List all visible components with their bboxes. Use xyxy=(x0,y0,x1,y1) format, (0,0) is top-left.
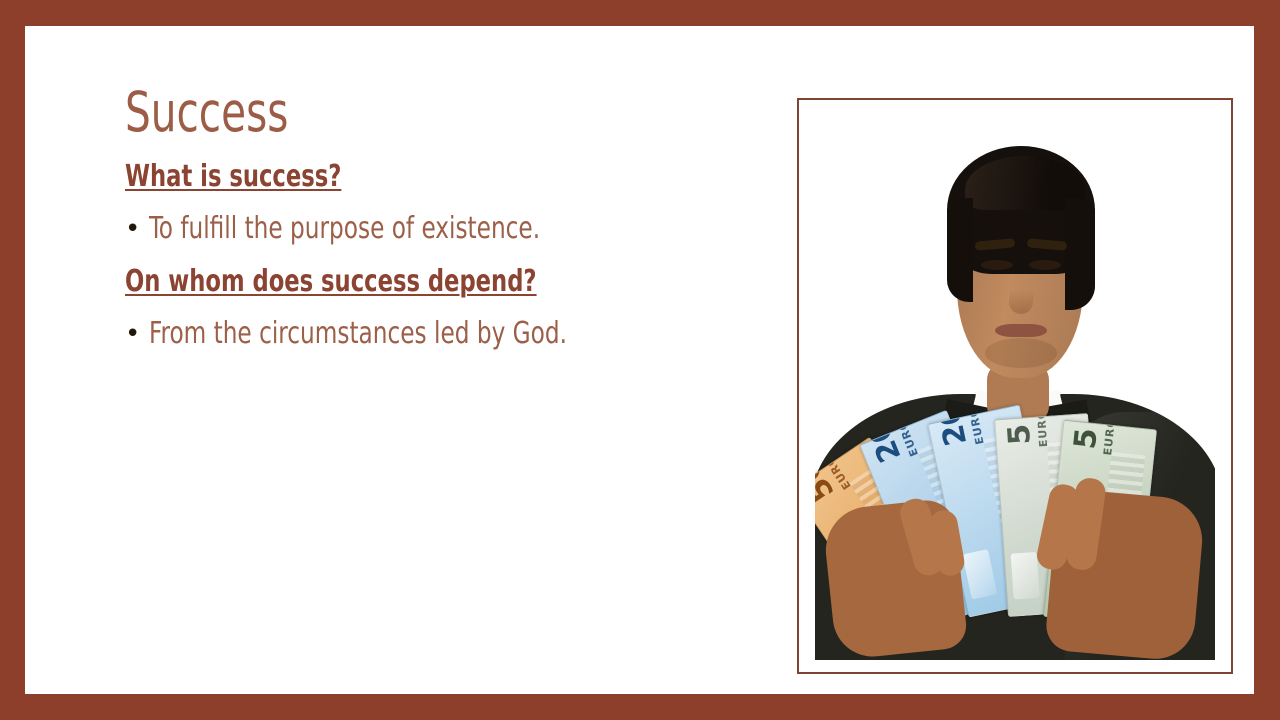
picture-frame: 50 EURO 20 EURO 20 EURO xyxy=(797,98,1233,674)
bullet-icon: • xyxy=(125,200,149,258)
page-title: Success xyxy=(125,81,633,143)
eye-right xyxy=(1029,260,1061,270)
slide-border: Success What is success? • To fulfill th… xyxy=(0,0,1280,720)
sub-heading-1: What is success? xyxy=(125,153,646,200)
list-item-label: To fulfill the purpose of existence. xyxy=(149,200,540,258)
list-item-label: From the circumstances led by God. xyxy=(149,305,567,363)
eye-left xyxy=(981,260,1013,270)
body-content: What is success? • To fulfill the purpos… xyxy=(125,153,745,363)
slide-content: Success What is success? • To fulfill th… xyxy=(125,81,745,363)
banknote-currency: EURO xyxy=(1101,420,1118,456)
sub-heading-2: On whom does success depend? xyxy=(125,258,646,305)
nose xyxy=(1009,274,1033,314)
hair-side-left xyxy=(947,198,973,302)
banknote-denomination: 5 xyxy=(1002,423,1038,446)
bullet-icon: • xyxy=(125,305,149,363)
banknote-hologram xyxy=(1011,552,1040,600)
banknote-denomination: 20 xyxy=(931,404,974,448)
list-item: • To fulfill the purpose of existence. xyxy=(125,200,745,258)
mouth xyxy=(995,324,1047,337)
photo-businessman-with-euros: 50 EURO 20 EURO 20 EURO xyxy=(815,112,1215,660)
chin-shading xyxy=(985,338,1057,368)
list-item: • From the circumstances led by God. xyxy=(125,305,745,363)
banknote-denomination: 5 xyxy=(1068,426,1105,450)
slide-canvas: Success What is success? • To fulfill th… xyxy=(25,26,1254,694)
hair-side-right xyxy=(1065,198,1095,310)
banknote-hologram xyxy=(962,549,997,599)
